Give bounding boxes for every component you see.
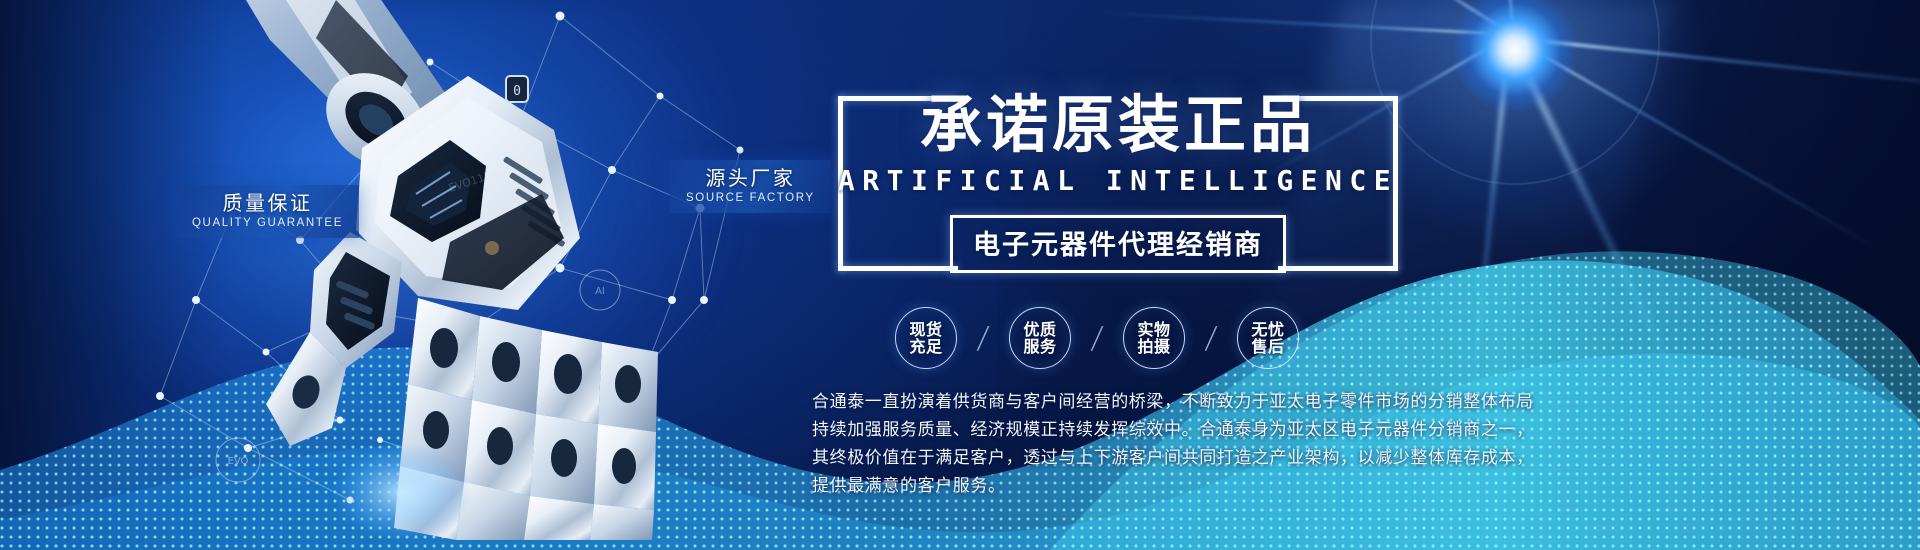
- headline-english-subtitle: ARTIFICIAL INTELLIGENCE: [838, 164, 1398, 197]
- badge-separator: /: [1183, 321, 1240, 356]
- ai-promo-banner: 0: [0, 0, 1920, 550]
- headline-block: 承诺原装正品 ARTIFICIAL INTELLIGENCE 电子元器件代理经销…: [838, 96, 1398, 271]
- feature-badge-stock: 现货 充足: [895, 307, 957, 369]
- feature-badge-aftersales-line1: 无忧: [1251, 321, 1284, 338]
- headline-subtitle-box: 电子元器件代理经销商: [950, 215, 1286, 273]
- feature-badge-aftersales: 无忧 售后: [1237, 307, 1299, 369]
- badge-quality-guarantee: 质量保证 QUALITY GUARANTEE: [176, 185, 359, 238]
- svg-text:0: 0: [513, 84, 521, 99]
- description-line-3: 其终极价值在于满足客户，透过与上下游客户间共同打造之产业架构，以减少整体库存成本…: [812, 444, 1652, 472]
- source-factory-en: SOURCE FACTORY: [686, 192, 815, 204]
- feature-badge-service-line1: 优质: [1023, 321, 1056, 338]
- feature-badge-row: 现货 充足 / 优质 服务 / 实物 拍摄 / 无忧 售后: [895, 307, 1299, 369]
- feature-badge-photo-line1: 实物: [1137, 321, 1170, 338]
- badge-separator: /: [1069, 321, 1126, 356]
- badge-separator: /: [955, 321, 1012, 356]
- feature-badge-photo-line2: 拍摄: [1137, 338, 1170, 355]
- description-line-1: 合通泰一直扮演着供货商与客户间经营的桥梁，不断致力于亚太电子零件市场的分销整体布…: [812, 388, 1652, 416]
- company-description: 合通泰一直扮演着供货商与客户间经营的桥梁，不断致力于亚太电子零件市场的分销整体布…: [812, 388, 1652, 500]
- feature-badge-stock-line1: 现货: [909, 321, 942, 338]
- bracket-left-bottom: [838, 266, 958, 271]
- feature-badge-stock-line2: 充足: [909, 338, 942, 355]
- headline-subtitle-text: 电子元器件代理经销商: [973, 230, 1263, 261]
- source-factory-cn: 源头厂家: [686, 167, 815, 190]
- robotic-hand-illustration: 0: [150, 0, 710, 540]
- headline-main-title: 承诺原装正品: [920, 74, 1316, 164]
- quality-guarantee-en: QUALITY GUARANTEE: [192, 217, 343, 229]
- quality-guarantee-cn: 质量保证: [192, 192, 343, 215]
- feature-badge-service: 优质 服务: [1009, 307, 1071, 369]
- feature-badge-photo: 实物 拍摄: [1123, 307, 1185, 369]
- bracket-right-bottom: [1278, 266, 1398, 271]
- feature-badge-aftersales-line2: 售后: [1251, 338, 1284, 355]
- lens-flare-core: [1455, 0, 1575, 110]
- badge-source-factory: 源头厂家 SOURCE FACTORY: [670, 160, 831, 213]
- feature-badge-service-line2: 服务: [1023, 338, 1056, 355]
- description-line-4: 提供最满意的客户服务。: [812, 472, 1652, 500]
- description-line-2: 持续加强服务质量、经济规模正持续发挥综效中。合通泰身为亚太区电子元器件分销商之一…: [812, 416, 1652, 444]
